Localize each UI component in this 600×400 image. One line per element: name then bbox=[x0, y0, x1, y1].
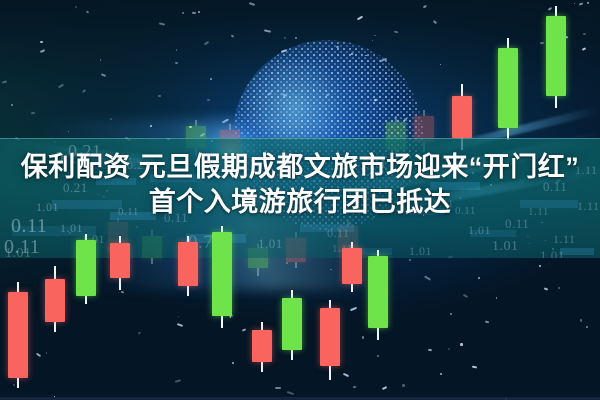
candlestick-4 bbox=[110, 236, 130, 290]
particle-speck bbox=[448, 348, 450, 350]
particle-speck bbox=[539, 265, 541, 267]
candlestick-body bbox=[452, 96, 472, 138]
band-number-31: 1.01 bbox=[5, 246, 32, 258]
particle-speck bbox=[450, 313, 452, 315]
band-number-14: 1.01 bbox=[258, 236, 283, 252]
headline-line-1: 保利配资 元旦假期成都文旅市场迎来“开门红” bbox=[0, 150, 600, 185]
candlestick-15 bbox=[368, 250, 388, 340]
band-number-22: 1.01 bbox=[468, 223, 491, 238]
candlestick-1 bbox=[8, 282, 28, 388]
particle-speck bbox=[402, 384, 404, 386]
candlestick-body bbox=[212, 232, 232, 316]
particle-speck bbox=[460, 343, 463, 346]
candlestick-body bbox=[320, 308, 340, 366]
particle-speck bbox=[275, 387, 281, 389]
candlestick-body bbox=[282, 298, 302, 350]
candlestick-body bbox=[45, 279, 65, 322]
candlestick-14 bbox=[342, 242, 362, 292]
band-number-25: 1.01 bbox=[540, 248, 565, 258]
candlestick-20 bbox=[498, 38, 518, 140]
particle-speck bbox=[158, 95, 160, 97]
candlestick-7 bbox=[178, 236, 198, 296]
particle-speck bbox=[423, 6, 426, 8]
candlestick-10 bbox=[252, 322, 272, 372]
particle-speck bbox=[239, 114, 240, 115]
candlestick-3 bbox=[76, 234, 96, 304]
band-number-24: 1.11 bbox=[553, 232, 576, 247]
headline: 保利配资 元旦假期成都文旅市场迎来“开门红” 首个入境游旅行团已抵达 bbox=[0, 150, 600, 219]
candlestick-8 bbox=[212, 226, 232, 328]
particle-speck bbox=[100, 59, 101, 60]
headline-line-2: 首个入境游旅行团已抵达 bbox=[0, 185, 600, 220]
particle-speck bbox=[330, 269, 331, 270]
banner-image: 0.110.110.111.011.010.211.010.110.210.11… bbox=[0, 0, 600, 400]
band-top-edge bbox=[0, 138, 600, 139]
band-bar-12 bbox=[560, 248, 594, 255]
candlestick-body bbox=[546, 16, 566, 96]
particle-speck bbox=[472, 365, 477, 368]
candlestick-body bbox=[8, 292, 28, 378]
particle-speck bbox=[176, 49, 177, 50]
candlestick-body bbox=[178, 242, 198, 286]
candlestick-21 bbox=[546, 6, 566, 108]
candlestick-body bbox=[76, 240, 96, 296]
candlestick-body bbox=[342, 248, 362, 284]
candlestick-12 bbox=[320, 300, 340, 380]
particle-speck bbox=[485, 320, 490, 323]
particle-speck bbox=[428, 349, 432, 351]
particle-speck bbox=[210, 78, 212, 80]
candlestick-2 bbox=[45, 266, 65, 332]
particle-speck bbox=[313, 89, 314, 90]
band-number-23: 1.01 bbox=[492, 239, 519, 255]
candlestick-11 bbox=[282, 290, 302, 360]
particle-speck bbox=[362, 336, 365, 339]
candlestick-body bbox=[498, 48, 518, 128]
candlestick-body bbox=[252, 330, 272, 362]
particle-speck bbox=[580, 319, 582, 321]
band-number-27: 0.11 bbox=[327, 226, 350, 241]
candlestick-body bbox=[110, 243, 130, 278]
band-number-26: 1.01 bbox=[409, 244, 432, 258]
particle-speck bbox=[192, 11, 197, 13]
particle-speck bbox=[558, 287, 560, 289]
candlestick-body bbox=[368, 256, 388, 328]
particle-speck bbox=[372, 40, 373, 41]
